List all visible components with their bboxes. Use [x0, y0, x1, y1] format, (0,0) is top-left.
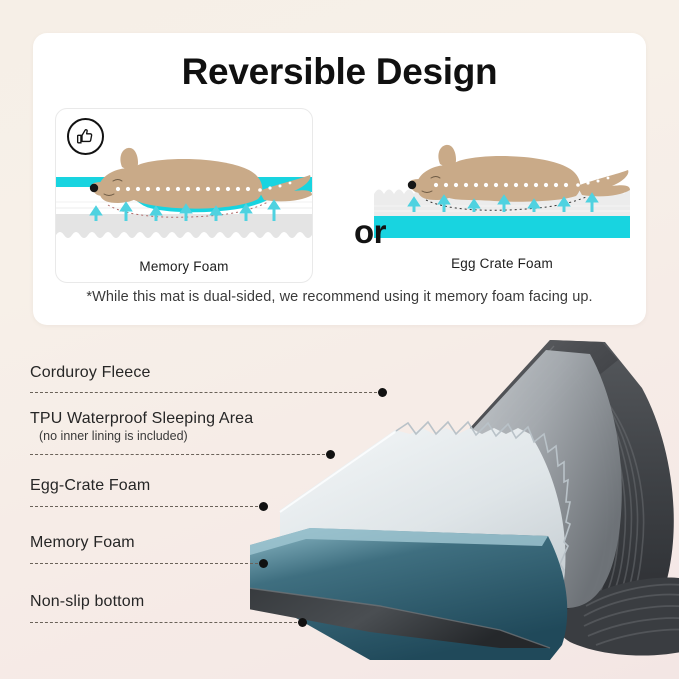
- leader-line-memory-foam: [30, 563, 263, 565]
- or-separator: or: [330, 213, 410, 251]
- leader-dot-egg-crate: [259, 502, 268, 511]
- leader-dot-memory-foam: [259, 559, 268, 568]
- leader-line-tpu: [30, 454, 330, 456]
- egg-crate-foam-panel: Egg Crate Foam: [374, 108, 630, 281]
- label-egg-crate-foam: Egg-Crate Foam: [30, 477, 150, 495]
- memory-foam-caption: Memory Foam: [56, 259, 312, 274]
- egg-crate-foam-diagram: [374, 108, 630, 250]
- leader-line-egg-crate: [30, 506, 263, 508]
- label-non-slip-bottom: Non-slip bottom: [30, 593, 144, 611]
- label-memory-foam: Memory Foam: [30, 534, 135, 552]
- leader-line-non-slip: [30, 622, 302, 624]
- page-title: Reversible Design: [33, 51, 646, 93]
- thumbs-up-icon: [67, 118, 104, 155]
- label-corduroy-fleece: Corduroy Fleece: [30, 364, 151, 382]
- leader-line-corduroy: [30, 392, 382, 394]
- leader-dot-non-slip: [298, 618, 307, 627]
- egg-crate-foam-caption: Egg Crate Foam: [374, 256, 630, 271]
- leader-dot-tpu: [326, 450, 335, 459]
- infographic-stage: Reversible Design: [0, 0, 679, 679]
- leader-dot-corduroy: [378, 388, 387, 397]
- footnote-text: *While this mat is dual-sided, we recomm…: [33, 289, 646, 305]
- memory-foam-panel: Memory Foam: [55, 108, 313, 283]
- label-tpu-waterproof: TPU Waterproof Sleeping Area (no inner l…: [30, 410, 253, 443]
- layer-labels: Corduroy Fleece TPU Waterproof Sleeping …: [0, 352, 679, 652]
- reversible-design-card: Reversible Design: [33, 33, 646, 325]
